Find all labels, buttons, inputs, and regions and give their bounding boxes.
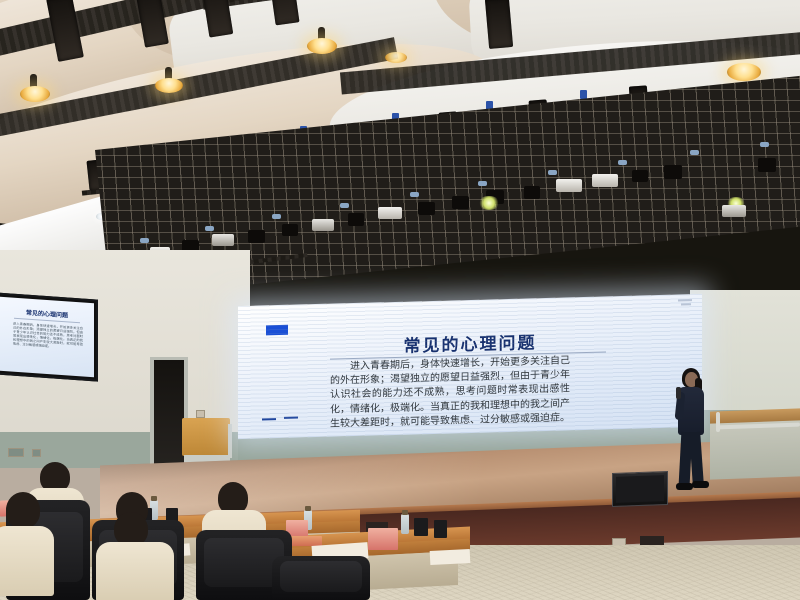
grid-fixture-18 bbox=[722, 205, 746, 217]
auditorium-photo: 常见的心理问题 进入青春期后，身体快速增长，开始更多关注自己的外在形象；渴望独立… bbox=[0, 0, 800, 600]
lens-cap-1 bbox=[140, 238, 149, 243]
wall-outlet-2 bbox=[8, 448, 24, 457]
lens-cap-5 bbox=[410, 192, 419, 197]
grid-fixture-10 bbox=[418, 202, 435, 215]
preview-slide-title: 常见的心理问题 bbox=[0, 306, 94, 322]
pen-holder-5 bbox=[434, 520, 447, 538]
grid-fixture-14 bbox=[556, 179, 582, 192]
grid-fixture-16 bbox=[632, 170, 648, 182]
lens-cap-3 bbox=[272, 214, 281, 219]
grid-fixture-7 bbox=[312, 219, 334, 231]
lens-cap-7 bbox=[548, 170, 557, 175]
preview-monitor[interactable]: 常见的心理问题 进入青春期后，身体快速增长，开始更多关注自己的外在形象；渴望独立… bbox=[0, 292, 98, 381]
pen-holder-4 bbox=[414, 518, 428, 536]
audience-chair-4[interactable] bbox=[272, 556, 370, 600]
stage-monitor-speaker bbox=[612, 471, 668, 507]
grid-fixture-19 bbox=[758, 158, 776, 172]
slide-divider bbox=[330, 351, 606, 359]
name-card-3 bbox=[368, 528, 398, 550]
lens-cap-10 bbox=[760, 142, 769, 147]
lens-cap-2 bbox=[205, 226, 214, 231]
presenter-shoe-left bbox=[676, 483, 693, 490]
lens-cap-9 bbox=[690, 150, 699, 155]
stage-doorway[interactable] bbox=[154, 360, 184, 469]
audience-head-2 bbox=[6, 492, 40, 528]
ceiling-lamp-2 bbox=[155, 78, 183, 93]
lens-cap-8 bbox=[618, 160, 627, 165]
grid-fixture-5 bbox=[248, 230, 265, 243]
lens-cap-4 bbox=[340, 203, 349, 208]
slide-footer-dash-1 bbox=[262, 418, 276, 420]
grid-fixture-13 bbox=[524, 186, 540, 199]
audience-head-5 bbox=[114, 512, 148, 546]
lens-cap-6 bbox=[478, 181, 487, 186]
presenter-shoe-right bbox=[692, 481, 709, 488]
light-beam-1 bbox=[478, 196, 500, 210]
preview-slide-body: 进入青春期后，身体快速增长，开始更多关注自己的外在形象；渴望独立的愿望日益强烈，… bbox=[13, 322, 83, 351]
presenter-leg-right bbox=[689, 432, 704, 486]
slide-corner-mark-2 bbox=[681, 303, 691, 305]
water-bottle-4 bbox=[401, 514, 409, 534]
audience-body-2 bbox=[0, 526, 54, 596]
grid-fixture-11 bbox=[452, 196, 469, 209]
folded-table[interactable] bbox=[182, 418, 230, 456]
slide-corner-mark bbox=[678, 299, 692, 301]
audience-body-5 bbox=[96, 542, 174, 600]
ceiling-lamp-1 bbox=[20, 86, 50, 102]
grid-fixture-17 bbox=[664, 165, 682, 179]
bottle-cap-4 bbox=[402, 510, 408, 515]
presenter-microphone bbox=[676, 387, 681, 399]
ceiling-lamp-3 bbox=[307, 38, 337, 54]
audience-member-2 bbox=[0, 492, 56, 600]
line-array-speaker-5 bbox=[485, 0, 513, 49]
grid-fixture-6 bbox=[282, 224, 298, 236]
slide-logo-block bbox=[266, 325, 288, 336]
slide-footer-dash-2 bbox=[284, 417, 298, 419]
grid-fixture-4 bbox=[212, 234, 234, 246]
presenter bbox=[668, 368, 714, 494]
folded-table-bar bbox=[228, 424, 232, 458]
grid-fixture-9 bbox=[378, 207, 402, 219]
wall-outlet-1 bbox=[196, 410, 205, 418]
presentation-screen[interactable]: 常见的心理问题 进入青春期后，身体快速增长，开始更多关注自己的外在形象；渴望独立… bbox=[238, 294, 702, 439]
slide-title: 常见的心理问题 bbox=[238, 324, 702, 361]
bottle-cap-3 bbox=[305, 506, 311, 511]
grid-fixture-8 bbox=[348, 213, 364, 226]
wall-outlet-3 bbox=[32, 449, 41, 457]
ceiling-lamp-4 bbox=[727, 63, 761, 81]
ceiling-lamp-5 bbox=[385, 52, 407, 63]
preview-monitor-screen: 常见的心理问题 进入青春期后，身体快速增长，开始更多关注自己的外在形象；渴望独立… bbox=[0, 297, 94, 378]
grid-fixture-15 bbox=[592, 174, 618, 187]
stage-rail-post bbox=[716, 412, 720, 432]
document-4 bbox=[430, 549, 471, 565]
slide-body-text: 进入青春期后，身体快速增长，开始更多关注自己的外在形象；渴望独立的愿望日益强烈，… bbox=[330, 354, 570, 431]
audience-member-5 bbox=[100, 512, 176, 600]
